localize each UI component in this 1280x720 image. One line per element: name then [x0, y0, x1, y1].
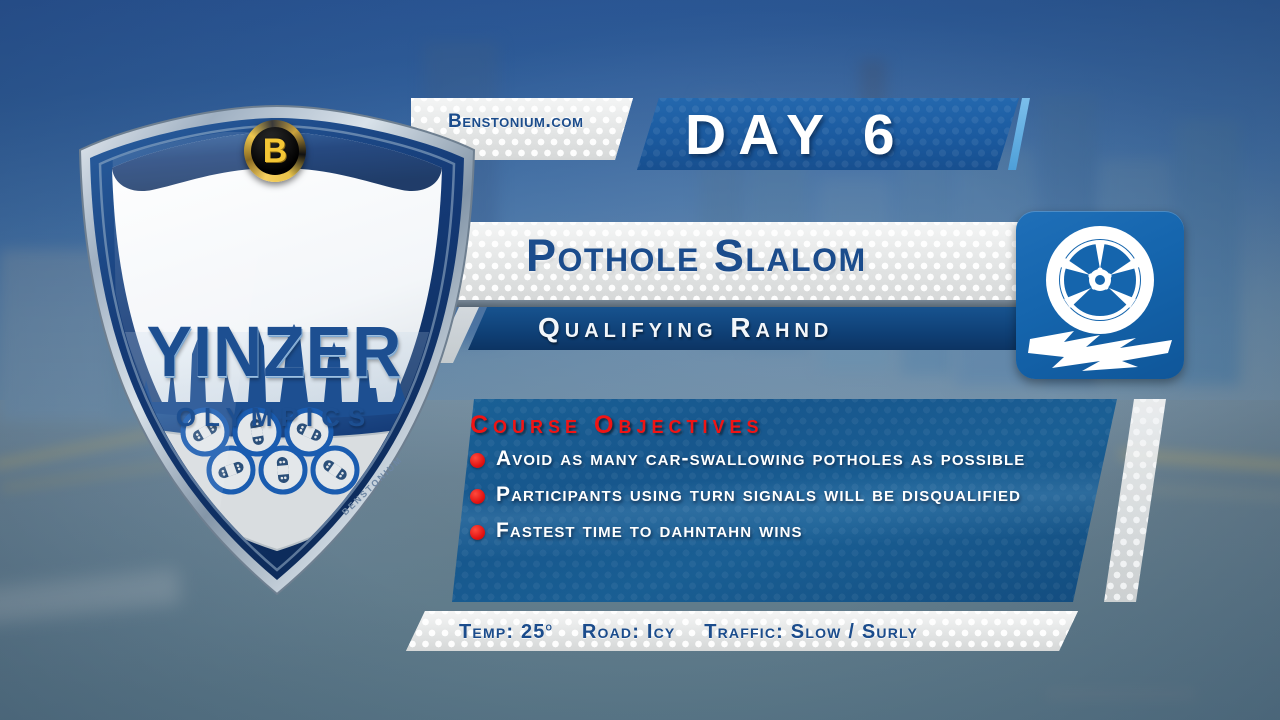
traffic-value: Slow / Surly [791, 621, 918, 643]
event-title-panel: Pothole Slalom [430, 222, 1030, 300]
road-value: Icy [647, 621, 676, 643]
event-subtitle: Qualifying Rahnd [538, 312, 833, 344]
temperature-value: 25 [521, 621, 546, 643]
day-banner: DAY 6 [637, 98, 1019, 170]
objective-text: Participants using turn signals will be … [496, 482, 1021, 507]
medallion-letter: B [263, 134, 288, 168]
course-objectives-panel: Course Objectives Avoid as many car-swal… [452, 399, 1117, 602]
tire-on-cracked-road-icon [1016, 211, 1184, 379]
event-subtitle-panel: Qualifying Rahnd [468, 307, 1030, 350]
degree-symbol: o [546, 619, 553, 633]
objective-item: Fastest time to dahntahn wins [470, 518, 1117, 543]
objective-text: Fastest time to dahntahn wins [496, 518, 803, 543]
traffic-readout: Traffic: Slow / Surly [704, 621, 918, 643]
temperature-label: Temp: [459, 621, 514, 643]
road-label: Road: [582, 621, 640, 643]
traffic-label: Traffic: [704, 621, 784, 643]
course-objectives-heading: Course Objectives [470, 411, 1117, 440]
temperature-readout: Temp: 25o [459, 621, 553, 643]
benstonium-medallion-icon: B [244, 120, 306, 182]
logo-subword: OLYMPICS [122, 402, 427, 433]
objective-text: Avoid as many car-swallowing potholes as… [496, 446, 1025, 471]
event-title: Pothole Slalom [526, 230, 867, 282]
event-icon-tile [1016, 211, 1184, 379]
road-readout: Road: Icy [582, 621, 676, 643]
title-divider-bar [439, 300, 1030, 307]
logo-wordmark: YINZER [128, 317, 421, 389]
objective-item: Participants using turn signals will be … [470, 482, 1117, 507]
objective-item: Avoid as many car-swallowing potholes as… [470, 446, 1117, 471]
day-label: DAY 6 [685, 100, 907, 170]
yinzer-olympics-shield-logo: B YINZER OLYMPICS BENSTONIUM [72, 102, 482, 602]
conditions-status-bar: Temp: 25o Road: Icy Traffic: Slow / Surl… [406, 611, 1078, 651]
